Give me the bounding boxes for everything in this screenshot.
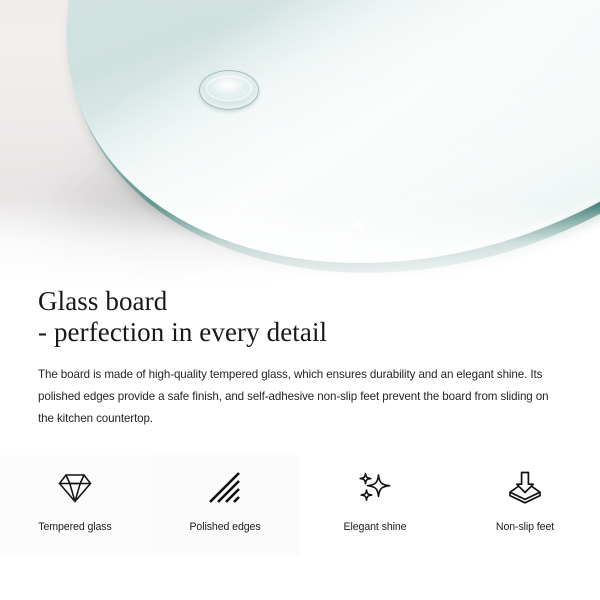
headline-line-1: Glass board [38,286,558,317]
description-paragraph: The board is made of high-quality temper… [38,364,566,430]
feature-list: Tempered glass Polished edges [0,455,600,555]
headline-line-2: - perfection in every detail [38,317,558,348]
diagonal-lines-icon [203,467,247,509]
sparkle-icon [353,467,397,509]
feature-label: Elegant shine [344,521,407,534]
silicone-foot [199,70,259,110]
diamond-icon [53,467,97,509]
content-block: Glass board - perfection in every detail… [0,286,600,430]
feature-item-non-slip-feet: Non-slip feet [450,455,600,555]
feature-label: Polished edges [189,521,260,534]
arrow-onto-pad-icon [503,467,547,509]
feature-item-elegant-shine: Elegant shine [300,455,450,555]
feature-label: Non-slip feet [496,521,554,534]
feature-label: Tempered glass [38,521,111,534]
description-text: The board is made of high-quality temper… [38,364,566,430]
feature-item-tempered-glass: Tempered glass [0,455,150,555]
product-feature-page: Glass board - perfection in every detail… [0,0,600,600]
feature-item-polished-edges: Polished edges [150,455,300,555]
silicone-foot-inner [206,76,252,101]
hero-image [0,0,600,290]
page-title: Glass board - perfection in every detail [38,286,558,348]
hero-fade-overlay [0,204,600,290]
